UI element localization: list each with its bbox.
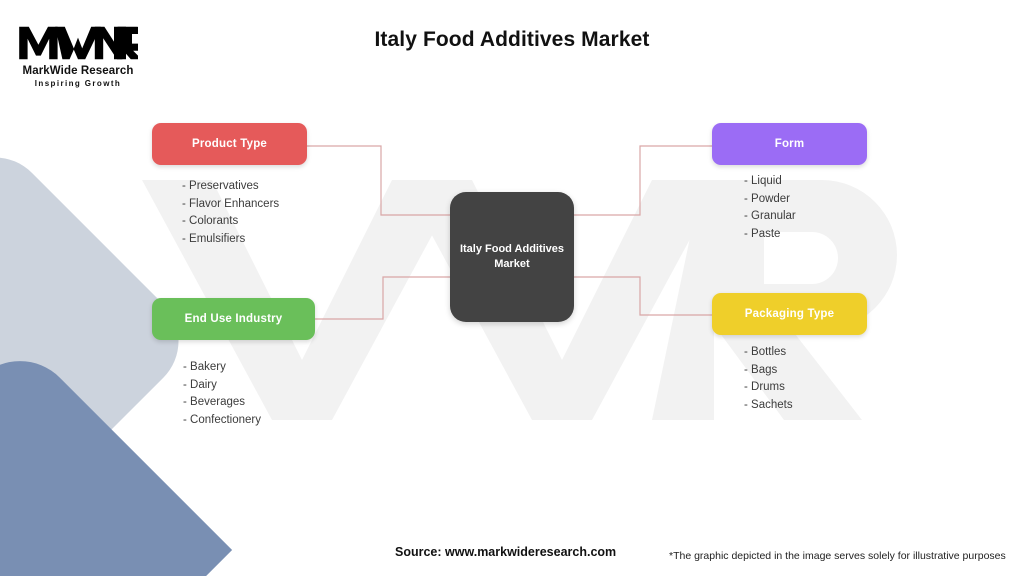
connector-end-use-industry <box>315 277 450 319</box>
branch-label-packaging-type: Packaging Type <box>745 308 835 320</box>
branch-items-product-type: - Preservatives - Flavor Enhancers - Col… <box>182 178 279 248</box>
connector-product-type <box>307 146 450 215</box>
connector-packaging-type <box>574 277 712 315</box>
connector-form <box>574 146 712 215</box>
branch-items-end-use-industry: - Bakery - Dairy - Beverages - Confectio… <box>183 359 261 429</box>
branch-pill-packaging-type[interactable]: Packaging Type <box>712 293 867 335</box>
branch-pill-form[interactable]: Form <box>712 123 867 165</box>
list-item: - Flavor Enhancers <box>182 196 279 214</box>
logo-tagline: Inspiring Growth <box>18 79 138 88</box>
center-node[interactable]: Italy Food Additives Market <box>450 192 574 322</box>
branch-label-end-use-industry: End Use Industry <box>185 313 283 325</box>
branch-items-packaging-type: - Bottles - Bags - Drums - Sachets <box>744 344 793 414</box>
branch-pill-product-type[interactable]: Product Type <box>152 123 307 165</box>
list-item: - Preservatives <box>182 178 279 196</box>
list-item: - Paste <box>744 226 796 244</box>
infographic-canvas: MarkWide Research Inspiring Growth Italy… <box>0 0 1024 576</box>
branch-label-product-type: Product Type <box>192 138 267 150</box>
list-item: - Bottles <box>744 344 793 362</box>
branch-pill-end-use-industry[interactable]: End Use Industry <box>152 298 315 340</box>
center-node-label-line1: Italy Food Additives <box>460 243 564 255</box>
branch-label-form: Form <box>775 138 805 150</box>
list-item: - Emulsifiers <box>182 231 279 249</box>
list-item: - Sachets <box>744 397 793 415</box>
list-item: - Colorants <box>182 213 279 231</box>
page-title: Italy Food Additives Market <box>0 28 1024 52</box>
source-label: Source: www.markwideresearch.com <box>395 545 616 559</box>
list-item: - Powder <box>744 191 796 209</box>
list-item: - Confectionery <box>183 412 261 430</box>
list-item: - Liquid <box>744 173 796 191</box>
disclaimer-text: *The graphic depicted in the image serve… <box>669 550 1006 562</box>
logo-company-name: MarkWide Research <box>18 65 138 77</box>
list-item: - Bakery <box>183 359 261 377</box>
center-node-label: Italy Food Additives Market <box>452 242 572 272</box>
branch-items-form: - Liquid - Powder - Granular - Paste <box>744 173 796 243</box>
center-node-label-line2: Market <box>494 258 529 270</box>
list-item: - Bags <box>744 362 793 380</box>
list-item: - Dairy <box>183 377 261 395</box>
list-item: - Drums <box>744 379 793 397</box>
list-item: - Beverages <box>183 394 261 412</box>
list-item: - Granular <box>744 208 796 226</box>
